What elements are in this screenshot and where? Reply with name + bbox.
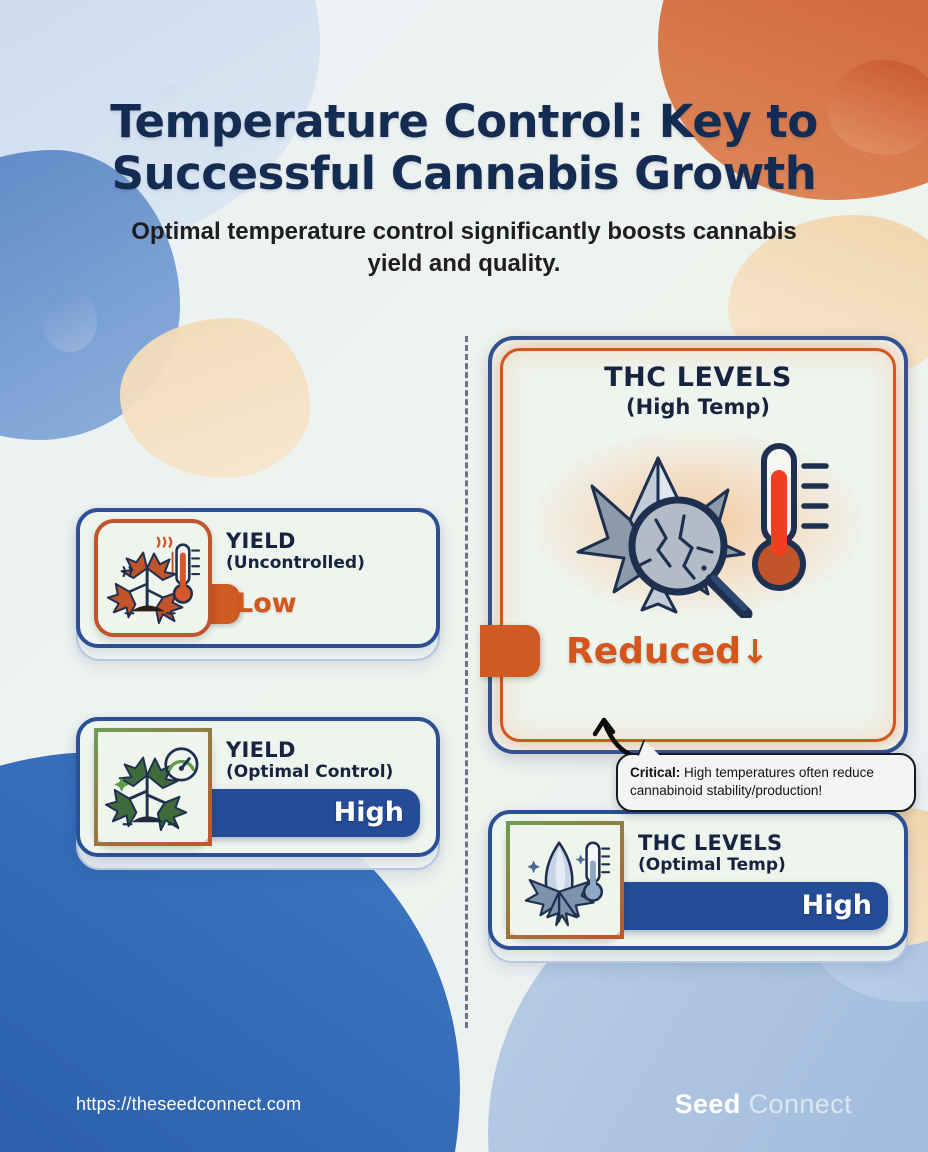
cracked-trichome-magnifier-hot-thermometer-icon xyxy=(510,423,886,623)
value-row: Low xyxy=(226,582,422,626)
card-header-panel: YIELD (Optimal Control) High xyxy=(76,717,440,857)
down-arrow-icon: ↓ xyxy=(741,632,769,671)
column-divider xyxy=(465,336,468,1028)
hero-value-badge: Reduced↓ xyxy=(510,631,769,672)
footer-url[interactable]: https://theseedconnect.com xyxy=(76,1094,301,1115)
callout-prefix: Critical: xyxy=(630,765,680,780)
card-label: YIELD xyxy=(226,530,422,552)
card-thc-optimal-temp: Optimal temperature control supports max… xyxy=(488,810,908,963)
left-column: Implies poorer yields under uncontrolled… xyxy=(76,452,440,900)
wilting-cannabis-plant-hot-thermometer-icon xyxy=(94,519,212,637)
card-yield-optimal: Implies better yields when temperature/h… xyxy=(76,717,440,870)
blob-dot-blue xyxy=(42,290,97,352)
card-text-group: YIELD (Optimal Control) High xyxy=(212,739,422,835)
card-yield-uncontrolled: Implies poorer yields under uncontrolled… xyxy=(76,508,440,661)
footer: https://theseedconnect.com Seed Connect xyxy=(0,1089,928,1120)
frosty-trichome-cannabis-leaf-thermometer-icon xyxy=(506,821,624,939)
card-label: YIELD xyxy=(226,739,422,761)
hero-value-row: Reduced↓ xyxy=(510,623,886,679)
value-badge: High xyxy=(226,797,422,828)
page-title: Temperature Control: Key to Successful C… xyxy=(0,96,928,200)
card-thc-high-temp: THC LEVELS (High Temp) xyxy=(488,336,908,754)
card-text-group: YIELD (Uncontrolled) Low xyxy=(212,530,422,626)
page-subtitle: Optimal temperature control significantl… xyxy=(0,216,928,278)
hero-sublabel: (High Temp) xyxy=(510,395,886,419)
card-sublabel: (Uncontrolled) xyxy=(226,553,422,573)
card-label: THC LEVELS xyxy=(638,832,890,854)
value-badge: Low xyxy=(226,588,297,619)
healthy-cannabis-plant-gauge-icon xyxy=(94,728,212,846)
card-text-group: THC LEVELS (Optimal Temp) High xyxy=(624,832,890,928)
hero-label: THC LEVELS xyxy=(510,362,886,393)
right-column: THC LEVELS (High Temp) xyxy=(488,336,908,993)
header: Temperature Control: Key to Successful C… xyxy=(0,96,928,279)
value-badge: High xyxy=(638,890,890,921)
card-sublabel: (Optimal Control) xyxy=(226,762,422,782)
brand-secondary: Connect xyxy=(749,1089,852,1119)
brand-logo: Seed Connect xyxy=(675,1089,852,1120)
card-header-panel: YIELD (Uncontrolled) Low xyxy=(76,508,440,648)
brand-primary: Seed xyxy=(675,1089,741,1119)
card-header-panel: THC LEVELS (Optimal Temp) High xyxy=(488,810,908,950)
value-row: High xyxy=(226,791,422,835)
value-row: High xyxy=(638,884,890,928)
hero-value-text: Reduced xyxy=(566,631,741,672)
card-sublabel: (Optimal Temp) xyxy=(638,855,890,875)
critical-callout: Critical: High temperatures often reduce… xyxy=(616,753,916,812)
